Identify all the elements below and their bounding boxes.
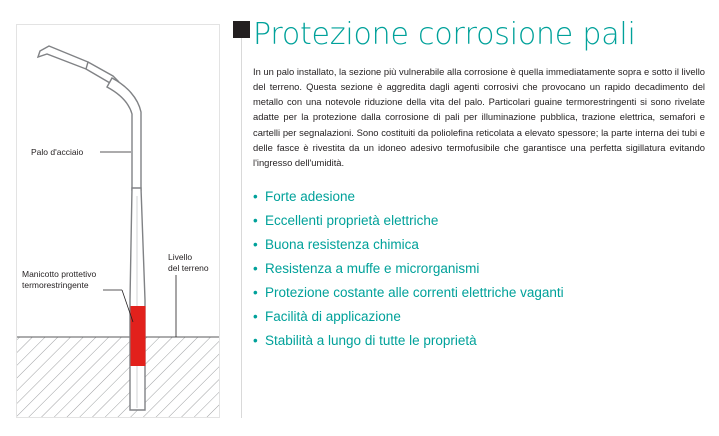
list-item: • Facilità di applicazione <box>253 310 708 324</box>
lamp-arm <box>107 78 141 190</box>
ground-hatch <box>17 337 219 417</box>
decorative-square <box>233 21 250 38</box>
bullet-dot-icon: • <box>253 238 258 252</box>
vertical-divider <box>241 24 242 418</box>
bullet-dot-icon: • <box>253 310 258 324</box>
label-sleeve: Manicotto prottetivo termorestringente <box>22 269 127 290</box>
list-item-label: Buona resistenza chimica <box>265 237 419 252</box>
bullet-dot-icon: • <box>253 286 258 300</box>
list-item: • Forte adesione <box>253 190 708 204</box>
page-title: Protezione corrosione pali <box>253 18 708 52</box>
bullet-dot-icon: • <box>253 334 258 348</box>
list-item-label: Resistenza a muffe e microrganismi <box>265 261 479 276</box>
bullet-dot-icon: • <box>253 214 258 228</box>
list-item-label: Forte adesione <box>265 189 355 204</box>
label-ground-level: Livello del terreno <box>168 252 224 273</box>
label-pole: Palo d'acciaio <box>31 147 83 158</box>
list-item-label: Facilità di applicazione <box>265 309 401 324</box>
feature-list: • Forte adesione • Eccellenti proprietà … <box>253 190 708 348</box>
list-item: • Resistenza a muffe e microrganismi <box>253 262 708 276</box>
page-root: Palo d'acciaio Manicotto prottetivo term… <box>0 0 719 436</box>
list-item: • Stabilità a lungo di tutte le propriet… <box>253 334 708 348</box>
list-item-label: Eccellenti proprietà elettriche <box>265 213 438 228</box>
bullet-dot-icon: • <box>253 262 258 276</box>
content-panel: Protezione corrosione pali In un palo in… <box>253 18 708 358</box>
illustration-panel: Palo d'acciaio Manicotto prottetivo term… <box>0 0 236 436</box>
lamp-head <box>38 46 119 83</box>
bullet-dot-icon: • <box>253 190 258 204</box>
list-item: • Eccellenti proprietà elettriche <box>253 214 708 228</box>
list-item: • Protezione costante alle correnti elet… <box>253 286 708 300</box>
list-item-label: Stabilità a lungo di tutte le proprietà <box>265 333 477 348</box>
list-item-label: Protezione costante alle correnti elettr… <box>265 285 564 300</box>
body-paragraph: In un palo installato, la sezione più vu… <box>253 64 705 171</box>
pole-diagram <box>0 0 236 436</box>
list-item: • Buona resistenza chimica <box>253 238 708 252</box>
protective-sleeve <box>131 306 146 366</box>
